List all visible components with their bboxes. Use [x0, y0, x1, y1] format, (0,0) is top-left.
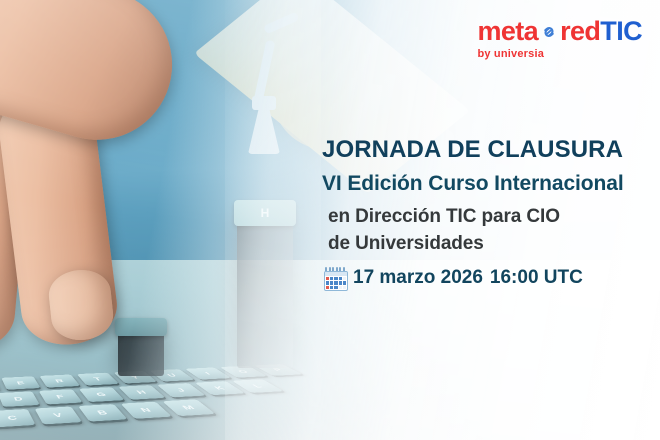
- metaredtic-logo[interactable]: meta red TIC by universia: [477, 18, 642, 60]
- event-datetime: 17 marzo 2026 16:00 UTC: [324, 267, 652, 289]
- logo-tagline: by universia: [477, 49, 642, 60]
- logo-text-red: red: [560, 18, 600, 45]
- headline-block: JORNADA DE CLAUSURA VI Edición Curso Int…: [322, 136, 652, 289]
- event-title: JORNADA DE CLAUSURA: [322, 136, 652, 164]
- calendar-header-strip: [325, 272, 347, 276]
- logo-text-meta: meta: [477, 18, 538, 45]
- logo-text-tic: TIC: [600, 18, 642, 45]
- event-description-line1: en Dirección TIC para CIO: [328, 206, 652, 228]
- link-chain-icon: [539, 22, 559, 42]
- calendar-grid: [326, 277, 346, 289]
- calendar-body: [324, 271, 348, 291]
- event-subtitle: VI Edición Curso Internacional: [322, 172, 652, 196]
- event-description-line2: de Universidades: [328, 233, 652, 255]
- logo-wordmark: meta red TIC: [477, 18, 642, 45]
- promo-banner: E R T Y U I O P D F G H J K L X C V B N …: [0, 0, 660, 440]
- calendar-icon: [324, 267, 346, 289]
- event-time: 16:00 UTC: [490, 267, 583, 289]
- event-date: 17 marzo 2026: [353, 267, 483, 289]
